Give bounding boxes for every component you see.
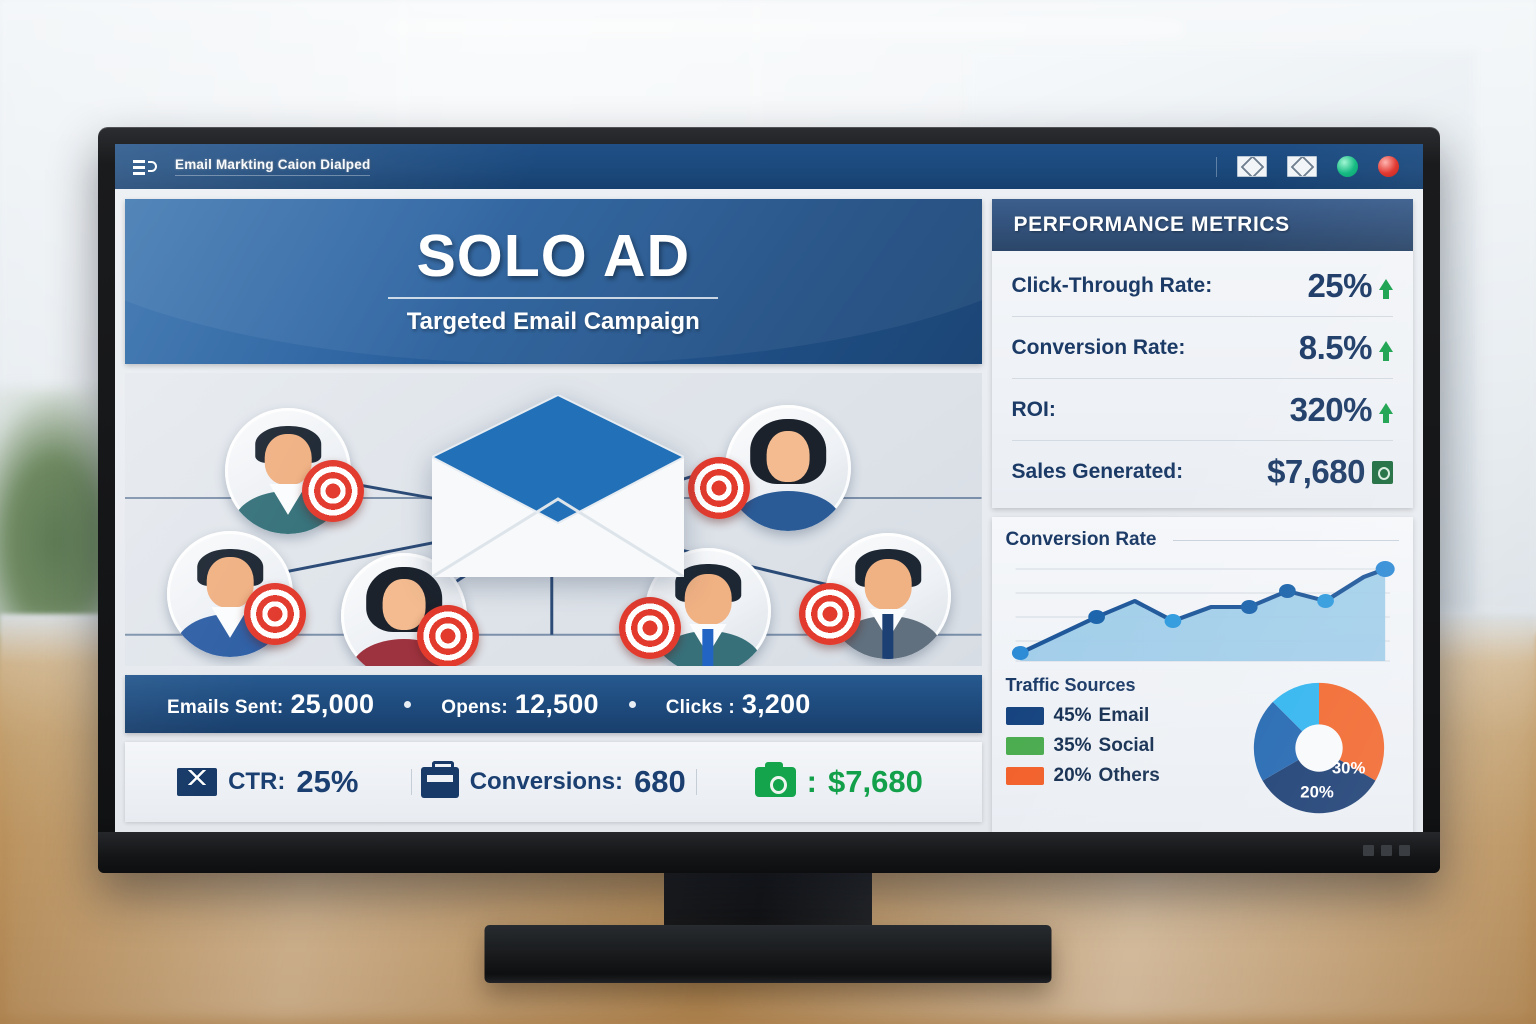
kpi-summary-bar: CTR: 25% Conversions: 680 : $7,680 [125, 742, 982, 822]
dashboard-body: SOLO AD Targeted Email Campaign [115, 189, 1423, 832]
metric-label: ROI: [1012, 398, 1056, 422]
toolbox-icon [421, 767, 459, 798]
legend-label: 45%Email [1054, 705, 1150, 727]
conversion-rate-chart[interactable] [1006, 555, 1399, 667]
divider [1216, 157, 1217, 177]
target-icon [244, 583, 306, 645]
legend-label: 20%Others [1054, 765, 1160, 787]
metric-row[interactable]: Sales Generated: $7,680 [1012, 441, 1393, 502]
metric-value-group: $7,680 [1267, 453, 1393, 491]
window-titlebar: Email Markting Caion Dialped [115, 144, 1423, 189]
legend-swatch-social [1006, 737, 1044, 755]
computer-monitor: Email Markting Caion Dialped SOLO AD Tar… [98, 127, 1440, 873]
screen: Email Markting Caion Dialped SOLO AD Tar… [115, 144, 1423, 832]
performance-metrics-card: PERFORMANCE METRICS Click-Through Rate: … [992, 199, 1413, 508]
stats-summary-bar: Emails Sent:25,000 Opens:12,500 Clicks :… [125, 675, 982, 733]
svg-text:20%: 20% [1300, 782, 1334, 801]
kpi-conversions[interactable]: Conversions: 680 [411, 764, 697, 800]
target-icon [799, 583, 861, 645]
money-icon [1372, 461, 1393, 484]
stat-clicks: Clicks :3,200 [666, 689, 811, 720]
trend-up-icon [1379, 279, 1393, 290]
right-column: PERFORMANCE METRICS Click-Through Rate: … [992, 199, 1413, 822]
email-network-diagram [125, 373, 982, 666]
kpi-label: CTR: [228, 768, 285, 796]
target-icon [302, 460, 364, 522]
metric-row[interactable]: Click-Through Rate: 25% [1012, 255, 1393, 317]
hero-divider [388, 297, 718, 299]
metric-value: 8.5% [1299, 329, 1372, 367]
kpi-ctr[interactable]: CTR: 25% [125, 764, 411, 800]
legend-label: 35%Social [1054, 735, 1155, 757]
divider [1173, 540, 1400, 541]
status-dot-green[interactable] [1337, 156, 1358, 177]
kpi-value: 25% [296, 764, 358, 800]
envelope-icon [177, 768, 217, 796]
envelope-icon[interactable] [1287, 156, 1317, 177]
stat-emails-sent: Emails Sent:25,000 [167, 689, 374, 720]
legend-item[interactable]: 35%Social [1006, 735, 1231, 757]
kpi-value: $7,680 [828, 764, 923, 800]
legend-item[interactable]: 20%Others [1006, 765, 1231, 787]
bullet-separator [629, 701, 636, 708]
kpi-sales[interactable]: : $7,680 [696, 764, 982, 800]
recipient-avatar[interactable] [725, 405, 851, 531]
metric-value-group: 25% [1307, 267, 1393, 305]
target-icon [688, 457, 750, 519]
traffic-donut-chart[interactable]: 30% 20% [1239, 675, 1399, 823]
traffic-title: Traffic Sources [1006, 675, 1231, 696]
monitor-bezel-bottom [98, 832, 1440, 873]
status-dot-red[interactable] [1378, 156, 1399, 177]
metric-row[interactable]: ROI: 320% [1012, 379, 1393, 441]
bullet-separator [404, 701, 411, 708]
legend-swatch-others [1006, 767, 1044, 785]
envelope-icon [432, 395, 684, 577]
card-header: PERFORMANCE METRICS [992, 199, 1413, 251]
metric-label: Conversion Rate: [1012, 336, 1186, 360]
ceiling-beam [384, 20, 1183, 36]
svg-text:30%: 30% [1332, 759, 1366, 778]
target-icon [619, 597, 681, 659]
money-icon [755, 767, 796, 797]
metric-label: Click-Through Rate: [1012, 274, 1213, 298]
metrics-list: Click-Through Rate: 25% Conversion Rate:… [992, 251, 1413, 508]
metric-label: Sales Generated: [1012, 460, 1184, 484]
metric-value-group: 320% [1290, 391, 1393, 429]
metric-row[interactable]: Conversion Rate: 8.5% [1012, 317, 1393, 379]
metric-value: 320% [1290, 391, 1372, 429]
legend-item[interactable]: 45%Email [1006, 705, 1231, 727]
legend-swatch-email [1006, 707, 1044, 725]
metric-value: $7,680 [1267, 453, 1365, 491]
left-column: SOLO AD Targeted Email Campaign [125, 199, 982, 822]
hero-banner: SOLO AD Targeted Email Campaign [125, 199, 982, 364]
trend-up-icon [1379, 403, 1393, 414]
envelope-icon[interactable] [1237, 156, 1267, 177]
chart-title: Conversion Rate [1006, 529, 1163, 551]
window-title: Email Markting Caion Dialped [175, 157, 370, 176]
hero-subtitle: Targeted Email Campaign [407, 308, 700, 336]
trend-up-icon [1379, 341, 1393, 352]
target-icon [417, 605, 479, 666]
kpi-label: : [807, 764, 817, 800]
kpi-label: Conversions: [470, 768, 623, 796]
monitor-control-buttons[interactable] [1363, 845, 1410, 856]
grid-menu-icon[interactable] [133, 158, 159, 176]
traffic-legend: Traffic Sources 45%Email 35%Social [1006, 675, 1231, 795]
kpi-value: 680 [634, 764, 686, 800]
metric-value-group: 8.5% [1299, 329, 1393, 367]
hero-title: SOLO AD [416, 227, 690, 286]
titlebar-actions [1216, 156, 1399, 177]
stat-opens: Opens:12,500 [441, 689, 598, 720]
monitor-stand-base [485, 925, 1052, 983]
traffic-sources-section: Traffic Sources 45%Email 35%Social [1006, 675, 1399, 823]
metric-value: 25% [1307, 267, 1372, 305]
conversion-chart-header: Conversion Rate [1006, 529, 1399, 551]
charts-card: Conversion Rate [992, 517, 1413, 832]
